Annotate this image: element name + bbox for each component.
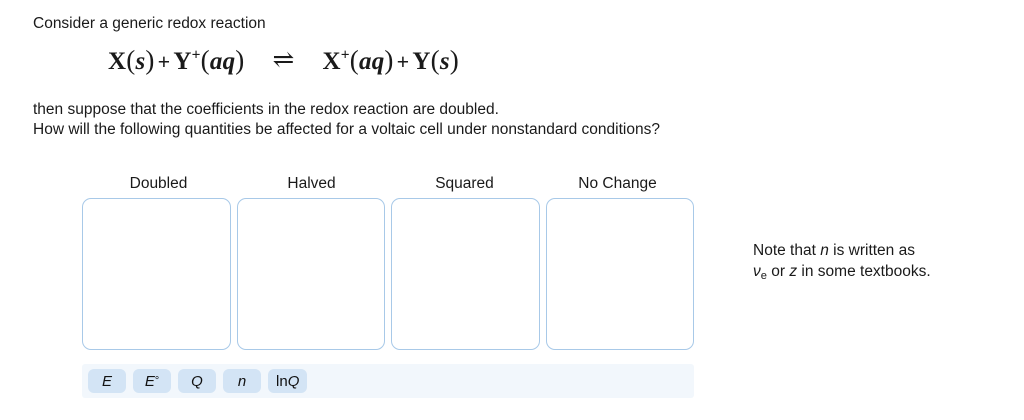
token-tray: E E° Q n lnQ: [82, 364, 694, 398]
token-E-label: E: [102, 373, 112, 390]
drop-box-halved[interactable]: [237, 198, 386, 350]
column-header-squared: Squared: [388, 175, 541, 198]
side-note-variable-n: n: [820, 242, 829, 259]
equation-left-species-1: X: [108, 48, 126, 75]
dropzone-header-row: Doubled Halved Squared No Change: [82, 175, 694, 198]
dropzone-box-row: [82, 198, 694, 350]
equation-close-paren-4: ): [450, 45, 459, 75]
drop-box-no-change[interactable]: [546, 198, 695, 350]
side-note-line2-mid: or: [767, 263, 789, 280]
side-note-variable-nu: ν: [753, 263, 761, 280]
equation-close-paren-2: ): [235, 45, 244, 75]
equation-open-paren-4: (: [431, 45, 440, 75]
equation-open-paren-3: (: [350, 45, 359, 75]
prompt-then-text: then suppose that the coefficients in th…: [33, 100, 499, 120]
token-lnQ[interactable]: lnQ: [268, 369, 307, 393]
degree-icon: °: [155, 375, 159, 387]
column-header-doubled: Doubled: [82, 175, 235, 198]
equation-plus-1: +: [155, 49, 174, 74]
equation-left-state-1: s: [135, 48, 145, 75]
token-Q[interactable]: Q: [178, 369, 216, 393]
token-lnQ-prefix: ln: [276, 373, 288, 390]
side-note-line1-post: is written as: [829, 242, 915, 259]
token-n-label: n: [238, 373, 246, 390]
equation-right-state-1: aq: [359, 48, 384, 75]
equation-right-species-1: X: [322, 48, 340, 75]
equilibrium-arrow-icon: ⇌: [244, 45, 322, 75]
side-note-line2-post: in some textbooks.: [797, 263, 931, 280]
equation-open-paren-2: (: [201, 45, 210, 75]
token-E-standard-label: E: [145, 373, 155, 390]
equation-plus-2: +: [394, 49, 413, 74]
equation-right-charge-1: +: [341, 46, 350, 63]
equation-left-state-2: aq: [210, 48, 235, 75]
column-header-halved: Halved: [235, 175, 388, 198]
equation-right-species-2: Y: [412, 48, 430, 75]
redox-equation: X(s)+Y+(aq)⇌X+(aq)+Y(s): [108, 45, 459, 76]
equation-left-species-2: Y: [173, 48, 191, 75]
equation-right-state-2: s: [440, 48, 450, 75]
prompt-intro-text: Consider a generic redox reaction: [33, 14, 266, 34]
drop-box-doubled[interactable]: [82, 198, 231, 350]
side-note: Note that n is written as νe or z in som…: [753, 240, 1003, 287]
prompt-question-text: How will the following quantities be aff…: [33, 120, 660, 140]
dropzone-area: Doubled Halved Squared No Change: [82, 175, 694, 350]
token-lnQ-label: Q: [288, 373, 300, 390]
side-note-variable-z: z: [789, 263, 797, 280]
equation-left-charge-2: +: [192, 46, 201, 63]
token-E-standard[interactable]: E°: [133, 369, 171, 393]
token-Q-label: Q: [191, 373, 203, 390]
token-n[interactable]: n: [223, 369, 261, 393]
column-header-no-change: No Change: [541, 175, 694, 198]
side-note-line1-pre: Note that: [753, 242, 820, 259]
equation-close-paren-3: ): [384, 45, 393, 75]
equation-close-paren-1: ): [145, 45, 154, 75]
drop-box-squared[interactable]: [391, 198, 540, 350]
token-E[interactable]: E: [88, 369, 126, 393]
